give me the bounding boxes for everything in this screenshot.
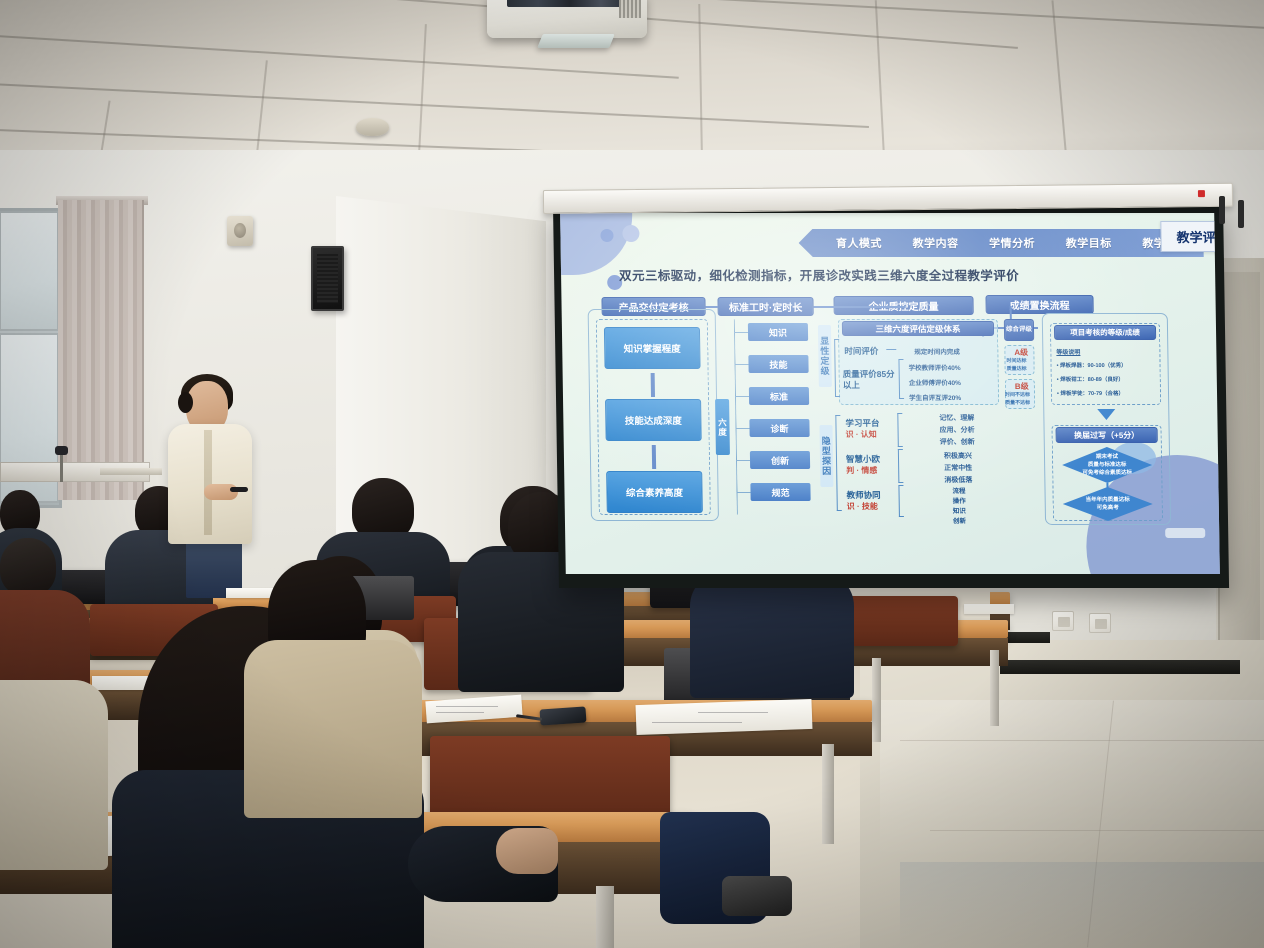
slide-tab-active[interactable]: 教学评价: [1160, 221, 1220, 252]
slide-grade-a-line0: 时间达标: [1006, 357, 1026, 364]
slide-implicit-val-1-1: 正常中性: [944, 463, 972, 473]
slide-dim-3: 诊断: [749, 419, 809, 437]
slide-decoration-dot: [600, 229, 613, 242]
slide-dim-0: 知识: [748, 323, 808, 341]
slide-step-2: 综合素养高度: [606, 471, 703, 513]
slide-grade-a-line1: 质量达标: [1007, 365, 1027, 372]
slide-implicit-val-1-0: 积极高兴: [944, 451, 972, 461]
slide-header-3: 成绩置换流程: [985, 295, 1093, 314]
chalk-tray: [100, 468, 162, 475]
slide-step-1: 技能达成深度: [605, 399, 702, 441]
slide-tab-2[interactable]: 学情分析: [989, 235, 1035, 251]
baseboard: [1000, 660, 1240, 674]
slide-implicit-src-1: 智慧小欧: [846, 453, 880, 465]
projector-bracket: [537, 34, 615, 48]
presenter-bun: [178, 392, 193, 413]
brand-logo: [1198, 190, 1208, 198]
shoe: [722, 876, 792, 916]
slide-quality-value-0: 学校教师评价40%: [908, 362, 960, 372]
slide-c4-panel-title: 项目考核的等级/成绩: [1054, 325, 1156, 340]
flow-node-1-text: 当年年内质量达标 可免高考: [1086, 496, 1130, 512]
slide-nav-bar: 育人模式 教学内容 学情分析 教学目标 教学策略: [798, 229, 1203, 257]
slide-c4-legend-title: 等级说明: [1056, 347, 1080, 356]
smartphone[interactable]: [539, 706, 586, 725]
projector-vent: [619, 0, 641, 18]
slide-implicit-val-0-1: 应用、分析: [939, 425, 974, 435]
slide-implicit-src-2: 教师协同: [846, 489, 880, 501]
slide-quality-label: 质量评价85分以上: [843, 369, 895, 391]
slide-tab-0[interactable]: 育人模式: [836, 235, 882, 251]
slide-implicit-val-2-0: 流程: [952, 485, 965, 495]
power-outlet[interactable]: [1052, 611, 1074, 631]
slide-dim-5: 规范: [750, 483, 810, 501]
slide-step-0: 知识掌握程度: [604, 327, 701, 369]
presenter-jacket-placket: [204, 430, 212, 535]
slide-time-label: 时间评价: [844, 345, 878, 357]
presentation-pointer[interactable]: [230, 487, 248, 492]
slide-tab-3[interactable]: 教学目标: [1066, 235, 1112, 251]
slide-implicit-val-2-1: 操作: [953, 495, 966, 505]
slide-time-value: 规定时间内完成: [914, 346, 960, 356]
power-outlet[interactable]: [1089, 613, 1111, 633]
slide-implicit-val-2-2: 知识: [953, 505, 966, 515]
slide-panel-title: 三维六度评估定级体系: [842, 321, 994, 336]
slide-grade-b-line1: 质量不达标: [1005, 399, 1030, 406]
paper: [964, 604, 1014, 614]
projector-ports: [507, 0, 632, 7]
flow-arrow-icon: [1097, 409, 1115, 420]
slide-implicit-tag: 隐型探因: [819, 425, 833, 487]
smoke-detector-icon: [356, 118, 389, 136]
slide-implicit-val-2-3: 创新: [953, 515, 966, 525]
attendee-hand: [496, 828, 558, 874]
slide-dim-4: 创新: [750, 451, 810, 469]
slide-implicit-val-1-2: 消极低落: [944, 475, 972, 485]
slide-explicit-tag: 显性定级: [818, 325, 832, 387]
slide-dim-1: 技能: [748, 355, 808, 373]
slide-implicit-val-0-2: 评价、创新: [940, 437, 975, 447]
window-blinds[interactable]: [58, 200, 144, 500]
slide-surface: 育人模式 教学内容 学情分析 教学目标 教学策略 教学评价 双元三标驱动，细化检…: [560, 213, 1220, 574]
slide-implicit-src-0: 学习平台: [845, 417, 879, 429]
wall-sensor: [227, 216, 253, 246]
slide-subtitle: 双元三标驱动，细化检测指标，开展诊改实践三维六度全过程教学评价: [619, 265, 1019, 284]
microphone-icon: [55, 446, 68, 455]
slide-decoration-bar: [1165, 528, 1205, 538]
slide-sixdim-tag: 六度: [715, 399, 730, 455]
slide-quality-value-1: 企业师傅评价40%: [909, 377, 961, 387]
slide-implicit-dim-0: 识 · 认知: [846, 429, 877, 440]
slide-dim-2: 标准: [749, 387, 809, 405]
projection-screen: 育人模式 教学内容 学情分析 教学目标 教学策略 教学评价 双元三标驱动，细化检…: [553, 206, 1229, 588]
microphone-stand: [60, 452, 63, 482]
slide-c4-legend-2: • 焊板学徒：70-79（合格）: [1057, 389, 1124, 397]
slide-implicit-dim-1: 判 · 情感: [846, 465, 877, 476]
slide-c4-legend-0: • 焊板焊器：90-100（优秀）: [1056, 361, 1126, 369]
slide-c4-legend-1: • 焊板钳工：80-89（良好）: [1057, 375, 1124, 383]
slide-decoration-dot: [622, 225, 639, 242]
slide-tab-1[interactable]: 教学内容: [912, 235, 958, 251]
slide-implicit-val-0-0: 记忆、理解: [939, 413, 974, 423]
flow-node-0-text: 期末考试 质量与标准达标 可免考综合素质达标: [1082, 453, 1132, 478]
slide-c4-convert-title: 换届过写（+5分）: [1056, 427, 1158, 443]
wall-speaker: [311, 246, 344, 311]
slide-implicit-dim-2: 识 · 技能: [847, 501, 878, 512]
slide-header-1: 标准工时·定时长: [717, 297, 813, 316]
chair[interactable]: [848, 596, 958, 646]
classroom-photo: 育人模式 教学内容 学情分析 教学目标 教学策略 教学评价 双元三标驱动，细化检…: [0, 0, 1264, 948]
ceiling-projector: [487, 0, 647, 38]
slide-quality-value-2: 学生自评互评20%: [909, 392, 961, 402]
slide-grade-b-line0: 时间不达标: [1005, 391, 1030, 398]
slide-grade-tag: 综合评级: [1004, 319, 1034, 341]
paper: [636, 699, 813, 735]
